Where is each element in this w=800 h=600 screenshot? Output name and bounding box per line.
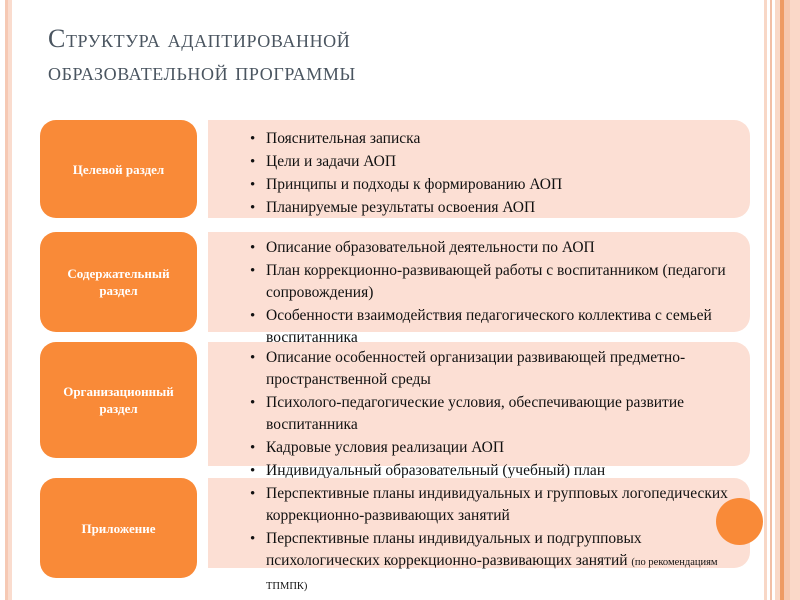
bullet-text: Принципы и подходы к формированию АОП: [266, 176, 562, 193]
list-item: Принципы и подходы к формированию АОП: [250, 174, 740, 196]
bullet-text: Цели и задачи АОП: [266, 153, 396, 170]
section-content-3: Описание особенностей организации развив…: [208, 342, 750, 466]
bullet-list-1: Пояснительная записка Цели и задачи АОП …: [250, 128, 740, 219]
left-border-stripe-inner: [8, 0, 12, 600]
list-item: Кадровые условия реализации АОП: [250, 437, 740, 459]
accent-circle-decoration: [716, 498, 763, 545]
bullet-list-4: Перспективные планы индивидуальных и гру…: [250, 483, 740, 598]
bullet-text: Пояснительная записка: [266, 130, 420, 147]
page-title: Структура адаптированной образовательной…: [48, 22, 688, 88]
list-item: План коррекционно-развивающей работы с в…: [250, 260, 740, 304]
section-content-4: Перспективные планы индивидуальных и гру…: [208, 478, 750, 568]
section-label-3: Организационный раздел: [40, 342, 197, 458]
right-border-stripe-6: [790, 0, 800, 600]
bullet-text: Описание особенностей организации развив…: [266, 349, 685, 388]
bullet-text: Индивидуальный образовательный (учебный)…: [266, 462, 605, 479]
bullet-text: Перспективные планы индивидуальных и гру…: [266, 485, 728, 524]
bullet-list-2: Описание образовательной деятельности по…: [250, 237, 740, 349]
bullet-text: План коррекционно-развивающей работы с в…: [266, 262, 726, 301]
bullet-text: Психолого-педагогические условия, обеспе…: [266, 394, 684, 433]
section-label-2: Содержательный раздел: [40, 232, 197, 332]
list-item: Пояснительная записка: [250, 128, 740, 150]
bullet-text: Кадровые условия реализации АОП: [266, 439, 504, 456]
list-item: Цели и задачи АОП: [250, 151, 740, 173]
bullet-text: Перспективные планы индивидуальных и под…: [266, 530, 642, 569]
section-content-1: Пояснительная записка Цели и задачи АОП …: [208, 120, 750, 218]
bullet-text: Планируемые результаты освоения АОП: [266, 199, 535, 216]
right-border-stripe-1: [764, 0, 767, 600]
list-item: Описание особенностей организации развив…: [250, 347, 740, 391]
section-label-1: Целевой раздел: [40, 120, 197, 218]
list-item: Перспективные планы индивидуальных и гру…: [250, 483, 740, 527]
right-border-stripe-2: [770, 0, 772, 600]
list-item: Описание образовательной деятельности по…: [250, 237, 740, 259]
bullet-text: Особенности взаимодействия педагогическо…: [266, 307, 712, 346]
bullet-text: Описание образовательной деятельности по…: [266, 239, 595, 256]
list-item: Психолого-педагогические условия, обеспе…: [250, 392, 740, 436]
bullet-list-3: Описание особенностей организации развив…: [250, 347, 740, 482]
slide-canvas: Структура адаптированной образовательной…: [0, 0, 800, 600]
list-item: Планируемые результаты освоения АОП: [250, 197, 740, 219]
list-item: Перспективные планы индивидуальных и под…: [250, 528, 740, 598]
section-label-4: Приложение: [40, 478, 197, 578]
section-content-2: Описание образовательной деятельности по…: [208, 232, 750, 332]
